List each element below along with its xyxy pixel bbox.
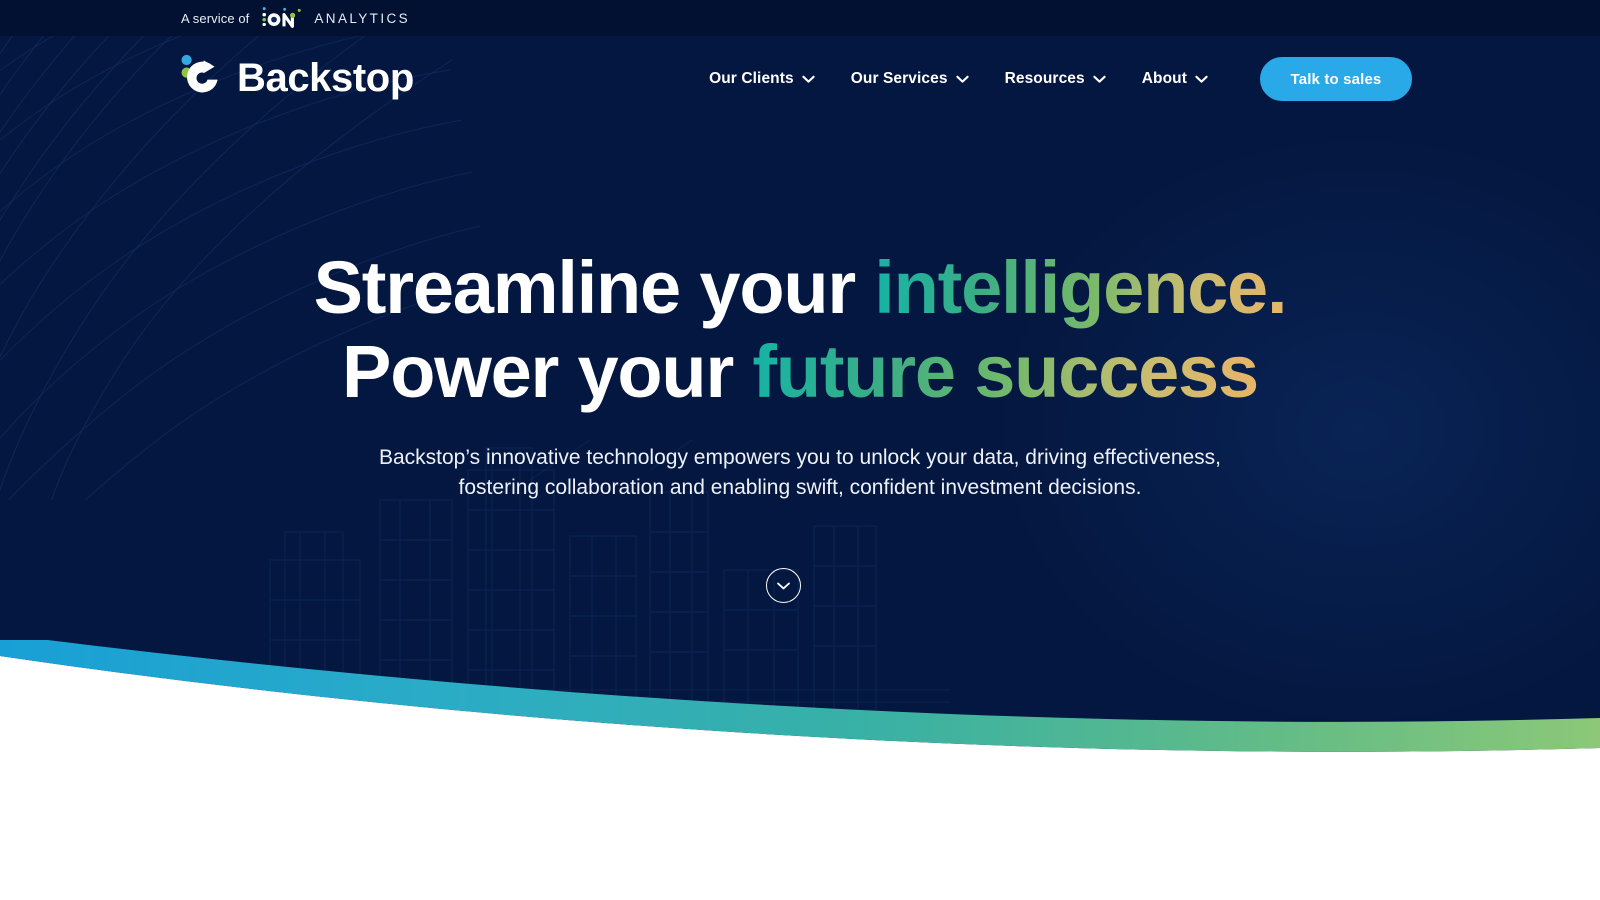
headline-plain-2: Power your [342, 330, 752, 413]
headline-accent-1: intelligence. [874, 246, 1286, 329]
hero-subtitle: Backstop’s innovative technology empower… [0, 443, 1600, 503]
page-body-below-hero [0, 760, 1600, 900]
hero-subtitle-line-1: Backstop’s innovative technology empower… [0, 443, 1600, 473]
headline-plain-1: Streamline your [314, 246, 875, 329]
brand-wordmark: Backstop [237, 58, 414, 98]
chevron-down-icon [1195, 75, 1208, 84]
ion-analytics-logo[interactable]: ANALYTICS [259, 6, 410, 30]
nav-item-our-clients[interactable]: Our Clients [691, 60, 833, 98]
nav-item-label: Resources [1005, 70, 1085, 88]
nav-item-about[interactable]: About [1124, 60, 1226, 98]
nav-item-label: About [1142, 70, 1187, 88]
nav-item-our-services[interactable]: Our Services [833, 60, 987, 98]
ion-logo-icon [259, 6, 307, 30]
landing-page: A service of ANALYTICS [0, 0, 1600, 900]
chevron-down-circle-icon [776, 581, 791, 591]
chevron-down-icon [802, 75, 815, 84]
scroll-down-button[interactable] [766, 568, 801, 603]
nav-item-label: Our Clients [709, 70, 794, 88]
backstop-logo-link[interactable]: Backstop [181, 52, 414, 104]
headline-line-1: Streamline your intelligence. [0, 246, 1600, 330]
hero-subtitle-line-2: fostering collaboration and enabling swi… [0, 473, 1600, 503]
headline-accent-2: future success [752, 330, 1258, 413]
talk-to-sales-button[interactable]: Talk to sales [1260, 57, 1412, 101]
ion-analytics-wordmark: ANALYTICS [314, 11, 410, 26]
nav-item-label: Our Services [851, 70, 948, 88]
nav-item-resources[interactable]: Resources [987, 60, 1124, 98]
top-utility-bar: A service of ANALYTICS [0, 0, 1600, 36]
wave-divider [0, 640, 1600, 760]
chevron-down-icon [956, 75, 969, 84]
service-of-label: A service of [181, 11, 249, 26]
nav-links-group: Our Clients Our Services Resources [691, 57, 1412, 101]
hero-section: A service of ANALYTICS [0, 0, 1600, 760]
hero-copy: Streamline your intelligence. Power your… [0, 246, 1600, 502]
partner-attribution: A service of ANALYTICS [181, 6, 410, 30]
chevron-down-icon [1093, 75, 1106, 84]
headline-line-2: Power your future success [0, 330, 1600, 414]
backstop-circle-logo-icon [181, 52, 225, 104]
main-navigation: Backstop Our Clients Our Services Res [0, 36, 1600, 136]
page-title: Streamline your intelligence. Power your… [0, 246, 1600, 415]
